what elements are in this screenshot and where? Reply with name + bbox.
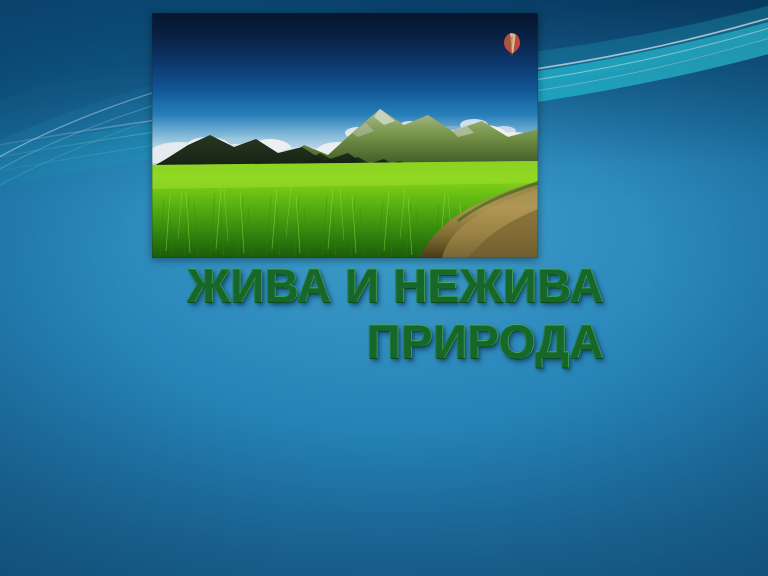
page-title: ЖИВА И НЕЖИВА ПРИРОДА xyxy=(62,262,622,366)
title-slide-picture xyxy=(152,13,538,258)
presentation-slide: ЖИВА И НЕЖИВА ПРИРОДА xyxy=(0,0,768,576)
title-line-1: ЖИВА И НЕЖИВА xyxy=(62,262,622,310)
title-line-2: ПРИРОДА xyxy=(62,318,622,366)
